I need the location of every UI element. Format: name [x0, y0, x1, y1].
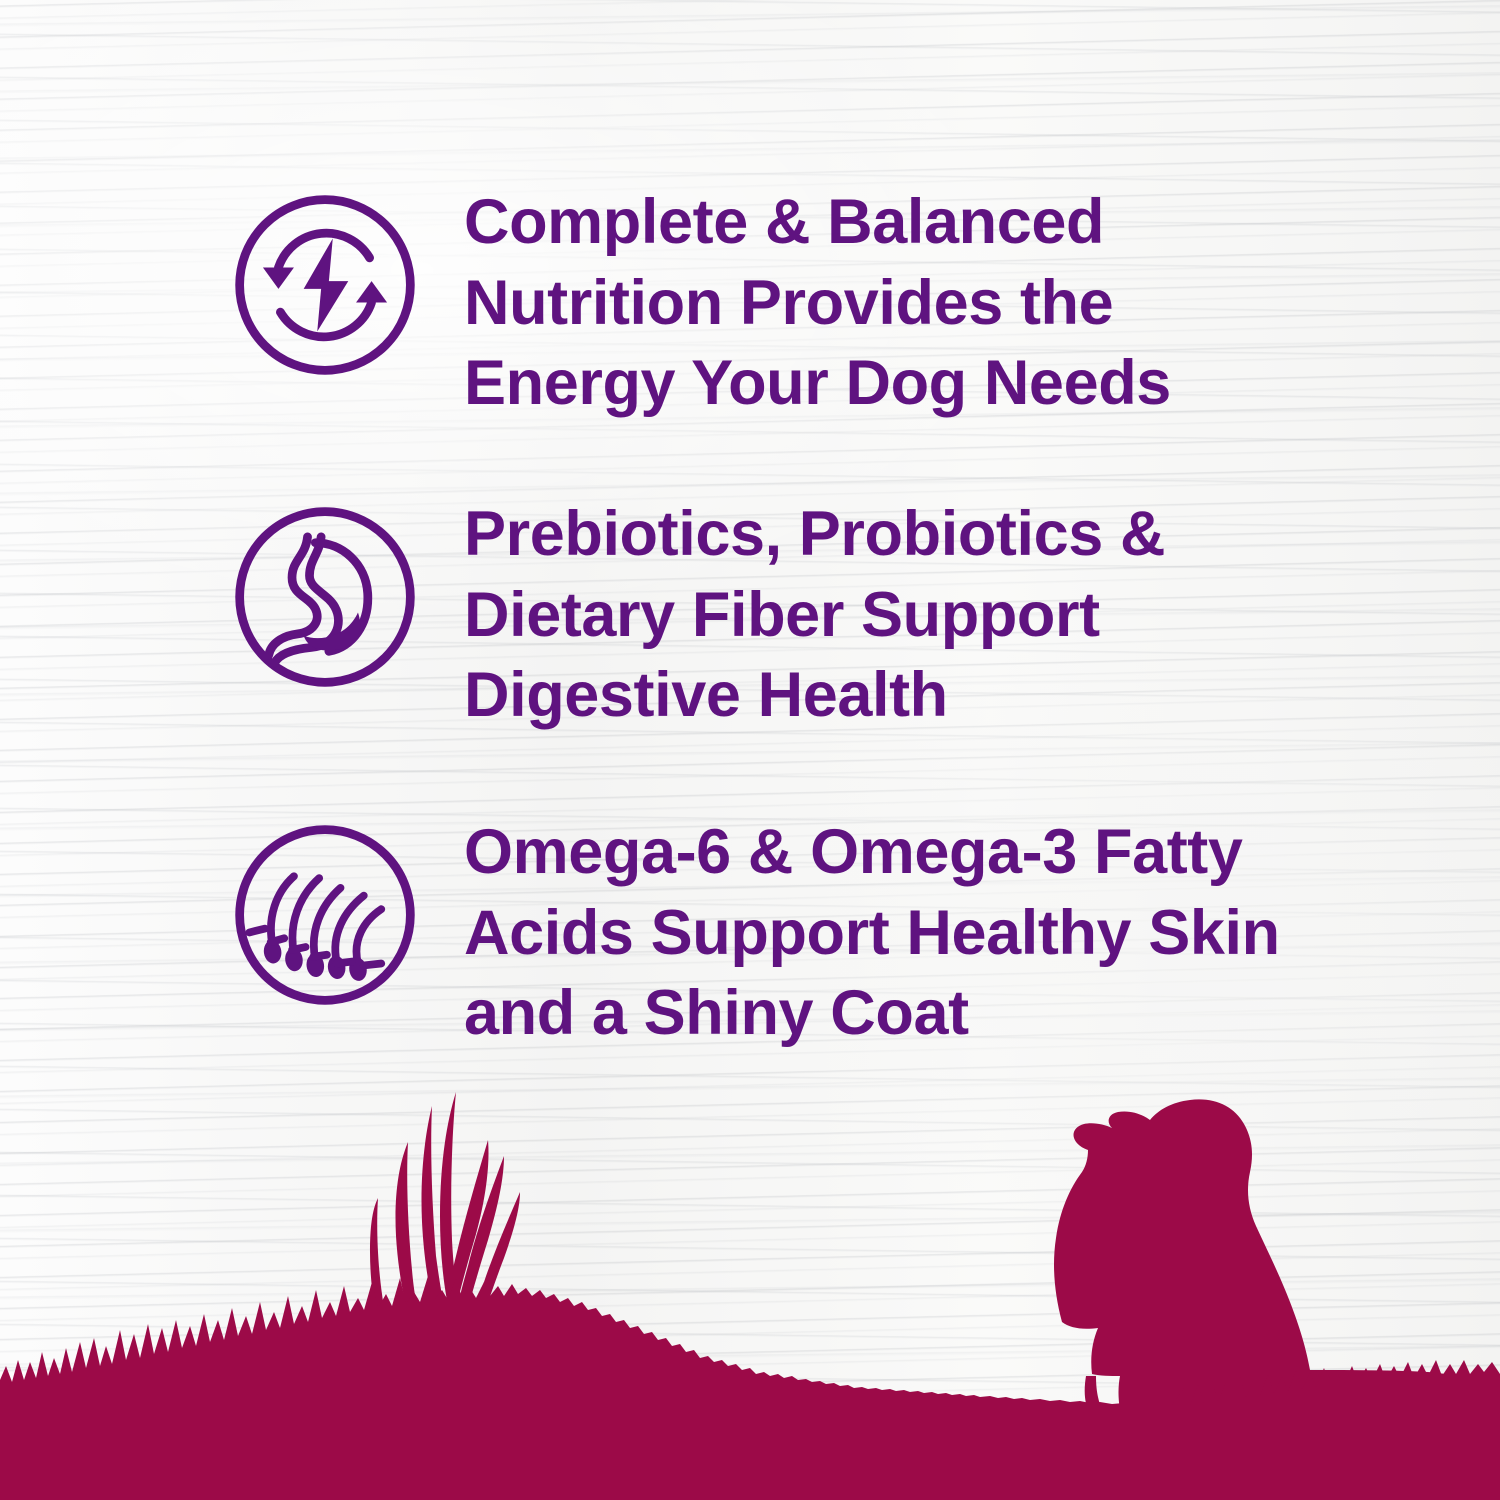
- hair-follicle-icon: [228, 818, 422, 1012]
- feature-text-digestion: Prebiotics, Probiotics & Dietary Fiber S…: [464, 494, 1165, 736]
- feature-item-energy: Complete & Balanced Nutrition Provides t…: [228, 188, 1171, 424]
- stomach-icon: [228, 500, 422, 694]
- feature-text-coat: Omega-6 & Omega-3 Fatty Acids Support He…: [464, 812, 1280, 1054]
- feature-item-digestion: Prebiotics, Probiotics & Dietary Fiber S…: [228, 500, 1165, 736]
- feature-item-coat: Omega-6 & Omega-3 Fatty Acids Support He…: [228, 818, 1280, 1054]
- page-root: Complete & Balanced Nutrition Provides t…: [0, 0, 1500, 1500]
- energy-cycle-icon: [228, 188, 422, 382]
- feature-text-energy: Complete & Balanced Nutrition Provides t…: [464, 182, 1171, 424]
